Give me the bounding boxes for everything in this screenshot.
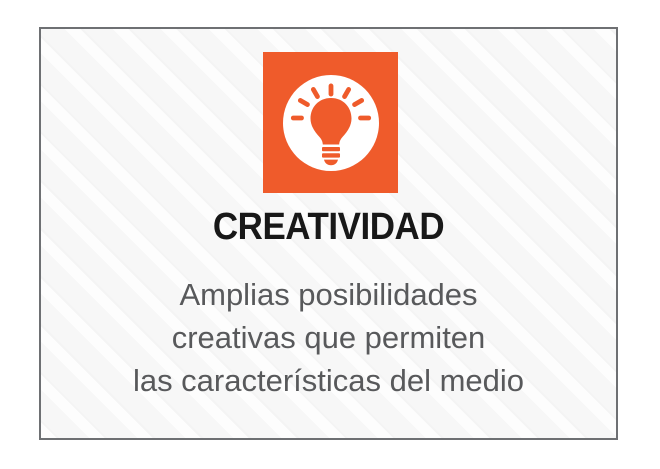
screenshot-root: CREATIVIDAD Amplias posibilidades creati… — [0, 0, 660, 469]
card-body-line-2: creativas que permiten — [41, 316, 616, 359]
icon-tile — [263, 52, 398, 193]
card-body-line-3: las características del medio — [41, 359, 616, 402]
card-body-line-1: Amplias posibilidades — [41, 273, 616, 316]
feature-card-inner: CREATIVIDAD Amplias posibilidades creati… — [41, 29, 616, 438]
card-body: Amplias posibilidades creativas que perm… — [41, 273, 616, 402]
feature-card: CREATIVIDAD Amplias posibilidades creati… — [39, 27, 618, 440]
card-headline: CREATIVIDAD — [64, 205, 593, 249]
lightbulb-icon — [271, 63, 391, 183]
